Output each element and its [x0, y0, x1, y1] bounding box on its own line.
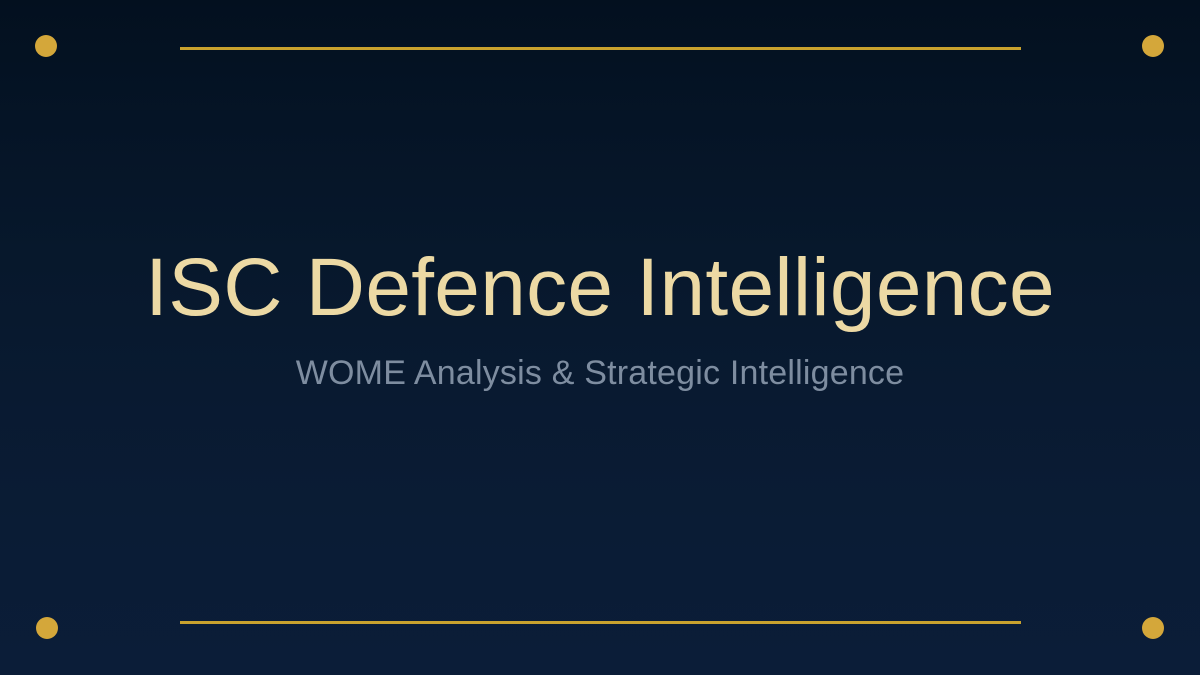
title-slide: ISC Defence Intelligence WOME Analysis &…: [0, 0, 1200, 675]
page-title: ISC Defence Intelligence: [145, 245, 1055, 330]
title-block: ISC Defence Intelligence WOME Analysis &…: [0, 0, 1200, 675]
page-subtitle: WOME Analysis & Strategic Intelligence: [296, 353, 905, 394]
